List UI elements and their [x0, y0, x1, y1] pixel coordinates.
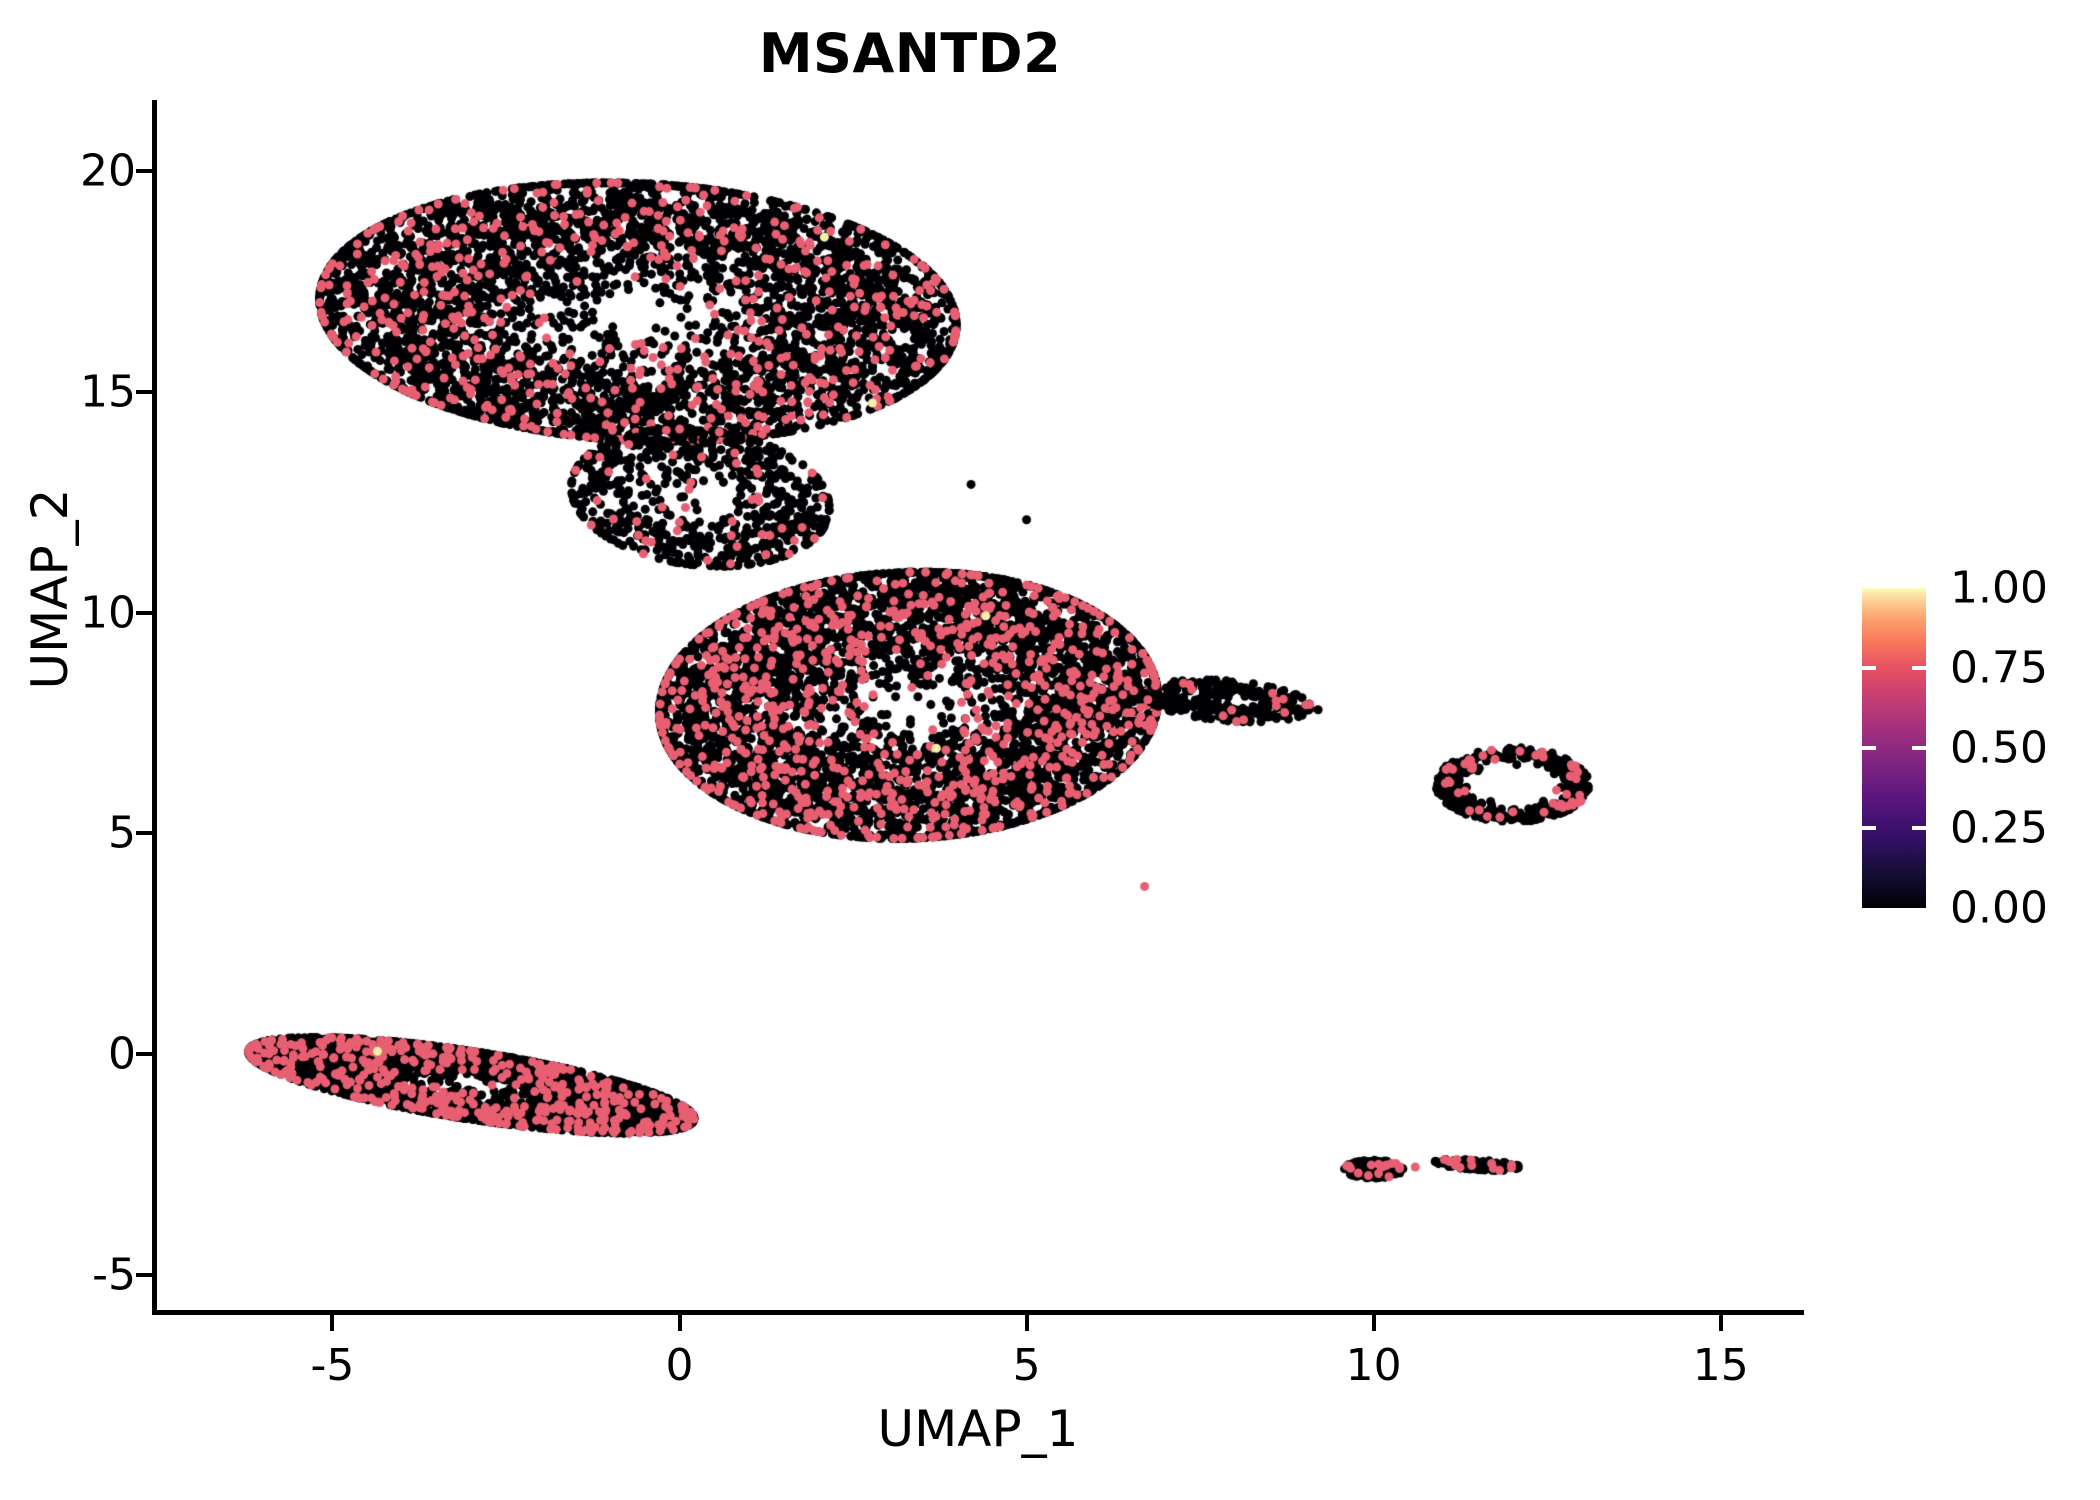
y-tick-mark: [136, 1052, 152, 1056]
x-tick-label: -5: [311, 1340, 355, 1391]
plot-axes: -505101520 -5051015: [152, 100, 1804, 1315]
colorbar: 0.000.250.500.751.00: [1862, 588, 2092, 908]
umap-feature-plot: MSANTD2 -505101520 -5051015 UMAP_1 UMAP_…: [0, 0, 2100, 1500]
x-tick-mark: [1719, 1315, 1723, 1331]
colorbar-tick-mark: [1912, 826, 1926, 830]
x-tick-mark: [1025, 1315, 1029, 1331]
x-axis-spine: [152, 1310, 1804, 1315]
y-axis-label: UMAP_2: [21, 309, 79, 869]
colorbar-tick-label: 0.75: [1950, 643, 2048, 694]
colorbar-tick-mark: [1862, 746, 1876, 750]
x-tick-mark: [1372, 1315, 1376, 1331]
colorbar-tick-mark: [1862, 666, 1876, 670]
x-tick-label: 15: [1693, 1340, 1749, 1391]
y-tick-mark: [136, 611, 152, 615]
x-tick-label: 5: [1013, 1340, 1041, 1391]
y-axis-spine: [152, 100, 157, 1315]
colorbar-tick-label: 1.00: [1950, 563, 2048, 614]
x-tick-label: 0: [666, 1340, 694, 1391]
colorbar-tick-mark: [1862, 826, 1876, 830]
y-tick-mark: [136, 1273, 152, 1277]
colorbar-tick-label: 0.50: [1950, 723, 2048, 774]
colorbar-tick-label: 0.25: [1950, 803, 2048, 854]
y-tick-label: 20: [0, 145, 136, 196]
colorbar-tick-label: 0.00: [1950, 883, 2048, 934]
x-axis-label: UMAP_1: [152, 1400, 1804, 1458]
page-title: MSANTD2: [0, 22, 1820, 85]
y-tick-mark: [136, 831, 152, 835]
x-tick-label: 10: [1346, 1340, 1402, 1391]
y-tick-label: 0: [0, 1029, 136, 1080]
x-tick-mark: [330, 1315, 334, 1331]
colorbar-tick-mark: [1912, 666, 1926, 670]
y-tick-label: -5: [0, 1250, 136, 1301]
colorbar-tick-mark: [1912, 746, 1926, 750]
x-tick-mark: [678, 1315, 682, 1331]
y-tick-mark: [136, 169, 152, 173]
y-tick-mark: [136, 390, 152, 394]
